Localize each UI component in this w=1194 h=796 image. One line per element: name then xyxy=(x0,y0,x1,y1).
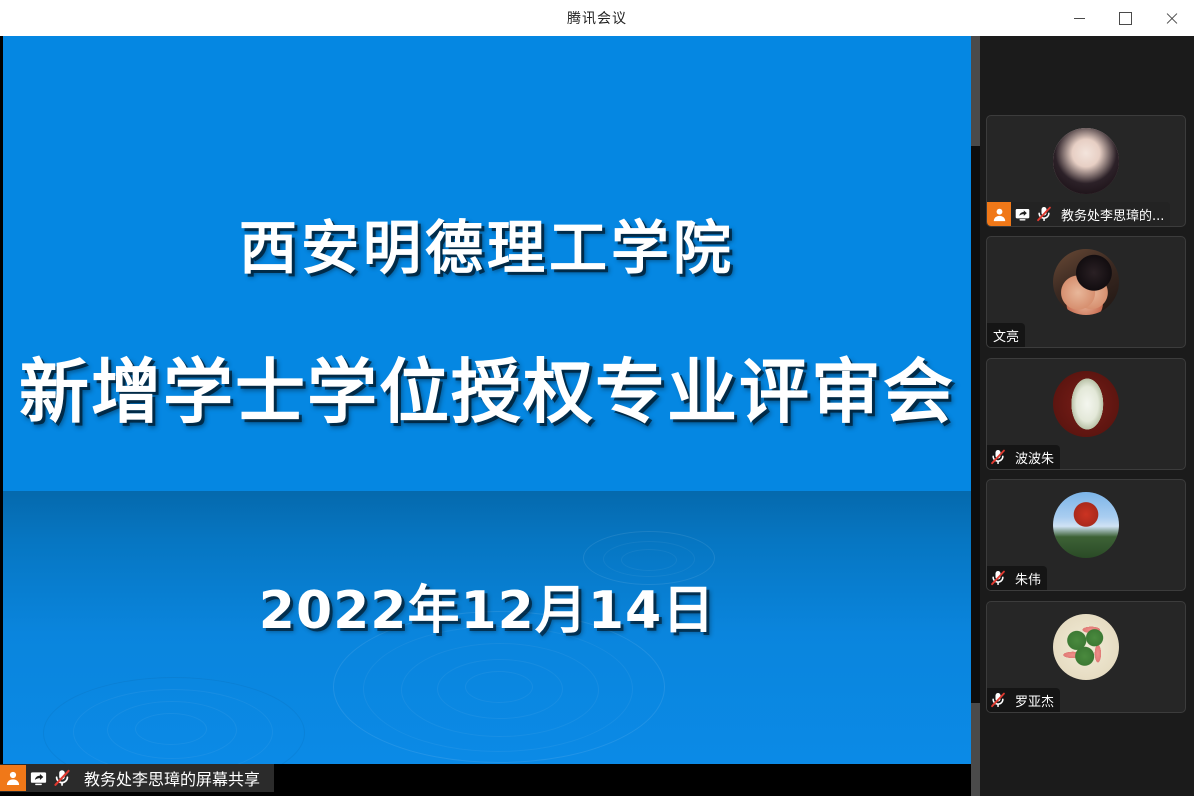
participant-name: 罗亚杰 xyxy=(1015,691,1054,710)
tencent-meeting-window: 腾讯会议 xyxy=(0,0,1194,796)
maximize-icon xyxy=(1119,12,1132,25)
participant-tile[interactable]: 教务处李思璋的... xyxy=(986,115,1186,227)
participant-name: 教务处李思璋的... xyxy=(1061,205,1164,224)
participant-name: 波波朱 xyxy=(1015,448,1054,467)
share-scrollbar-thumb[interactable] xyxy=(971,146,980,703)
close-icon xyxy=(1165,12,1178,25)
slide-date-text: 2022年12月14日 xyxy=(3,568,971,643)
participant-tile[interactable]: 文亮 xyxy=(986,236,1186,348)
avatar xyxy=(1053,614,1119,680)
minimize-button[interactable] xyxy=(1056,0,1102,36)
shared-screen-stage[interactable]: 西安明德理工学院 新增学士学位授权专业评审会 2022年12月14日 xyxy=(0,36,971,796)
mic-muted-icon xyxy=(987,445,1009,469)
window-titlebar: 腾讯会议 xyxy=(0,0,1194,36)
ripple-decoration xyxy=(465,671,533,703)
participant-name-bar: 文亮 xyxy=(987,323,1025,347)
mic-muted-icon xyxy=(50,765,74,791)
avatar-image xyxy=(1053,249,1119,315)
participant-tile[interactable]: 朱伟 xyxy=(986,479,1186,591)
participant-video-panel[interactable]: 教务处李思璋的...文亮波波朱朱伟罗亚杰 xyxy=(980,36,1194,796)
maximize-button[interactable] xyxy=(1102,0,1148,36)
avatar-image xyxy=(1053,614,1119,680)
minimize-icon xyxy=(1074,18,1085,19)
slide-title-line-1: 西安明德理工学院 xyxy=(3,201,971,285)
participant-name: 文亮 xyxy=(993,326,1019,345)
window-title: 腾讯会议 xyxy=(0,0,1194,36)
avatar-image xyxy=(1053,371,1119,437)
host-icon xyxy=(0,765,26,791)
avatar-image xyxy=(1053,128,1119,194)
avatar xyxy=(1053,371,1119,437)
participant-name-bar: 罗亚杰 xyxy=(987,688,1060,712)
avatar-image xyxy=(1053,492,1119,558)
mic-muted-icon xyxy=(1033,202,1055,226)
avatar xyxy=(1053,128,1119,194)
participant-tile[interactable]: 罗亚杰 xyxy=(986,601,1186,713)
window-controls xyxy=(1056,0,1194,36)
avatar xyxy=(1053,492,1119,558)
participant-name-bar: 波波朱 xyxy=(987,445,1060,469)
participant-name-bar: 教务处李思璋的... xyxy=(987,202,1170,226)
ripple-decoration xyxy=(135,713,207,745)
share-footer-bar: 教务处李思璋的屏幕共享 xyxy=(0,764,274,792)
presentation-slide: 西安明德理工学院 新增学士学位授权专业评审会 2022年12月14日 xyxy=(3,36,971,764)
slide-title-line-2: 新增学士学位授权专业评审会 xyxy=(3,336,971,437)
close-button[interactable] xyxy=(1148,0,1194,36)
screen-share-icon xyxy=(26,765,50,791)
host-icon xyxy=(987,202,1011,226)
avatar xyxy=(1053,249,1119,315)
participant-name: 朱伟 xyxy=(1015,569,1041,588)
participant-name-bar: 朱伟 xyxy=(987,566,1047,590)
screen-share-icon xyxy=(1011,202,1033,226)
mic-muted-icon xyxy=(987,566,1009,590)
participant-tile[interactable]: 波波朱 xyxy=(986,358,1186,470)
share-footer-label: 教务处李思璋的屏幕共享 xyxy=(84,766,260,790)
mic-muted-icon xyxy=(987,688,1009,712)
